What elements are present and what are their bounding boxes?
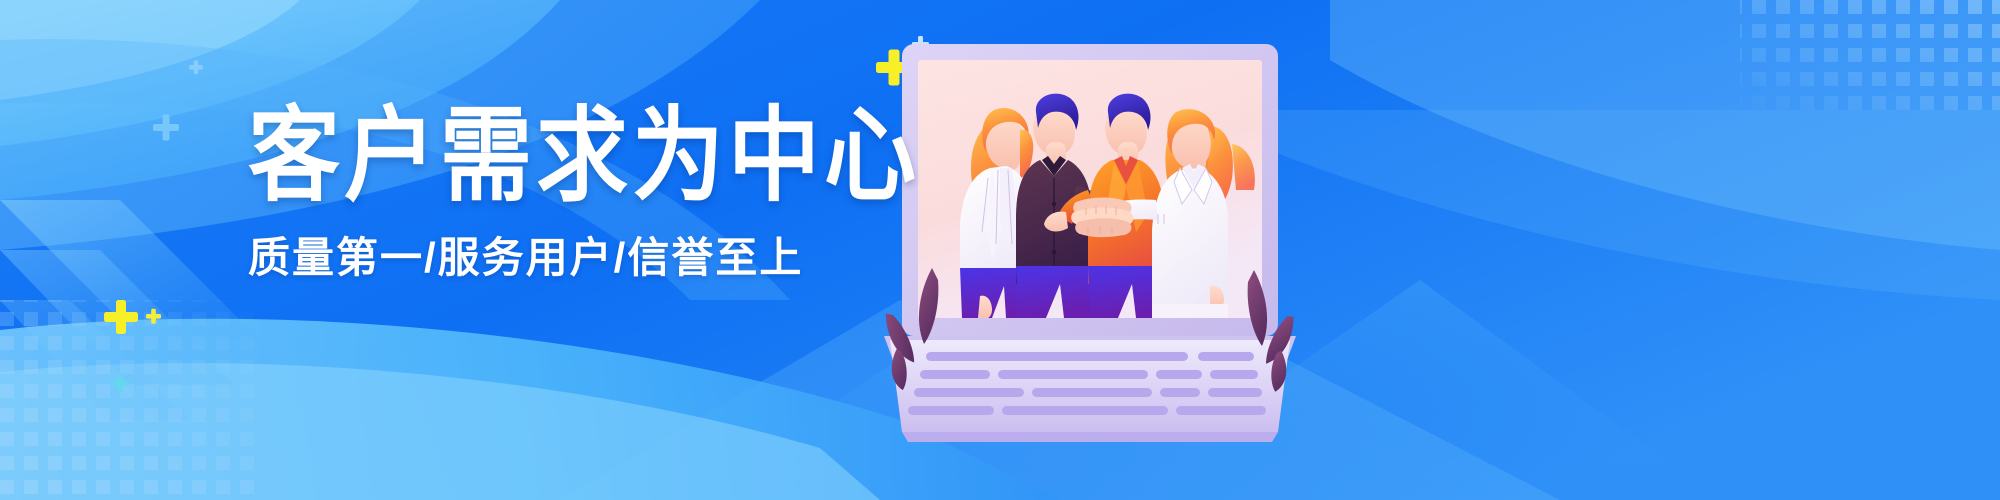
dot-grid-bottom-left: [0, 300, 260, 500]
banner-headline: 客户需求为中心: [248, 105, 808, 210]
promo-banner: 客户需求为中心 质量第一/服务用户/信誉至上: [0, 0, 2000, 500]
banner-subtitle: 质量第一/服务用户/信誉至上: [248, 235, 808, 281]
banner-text-block: 客户需求为中心 质量第一/服务用户/信誉至上: [248, 105, 808, 281]
team-handstack-scene: [918, 60, 1262, 320]
laptop-team-illustration: [880, 18, 1300, 488]
dot-grid-top-right: [1740, 0, 2000, 120]
hand-stack: [1071, 198, 1133, 238]
laptop-base: [884, 336, 1296, 442]
